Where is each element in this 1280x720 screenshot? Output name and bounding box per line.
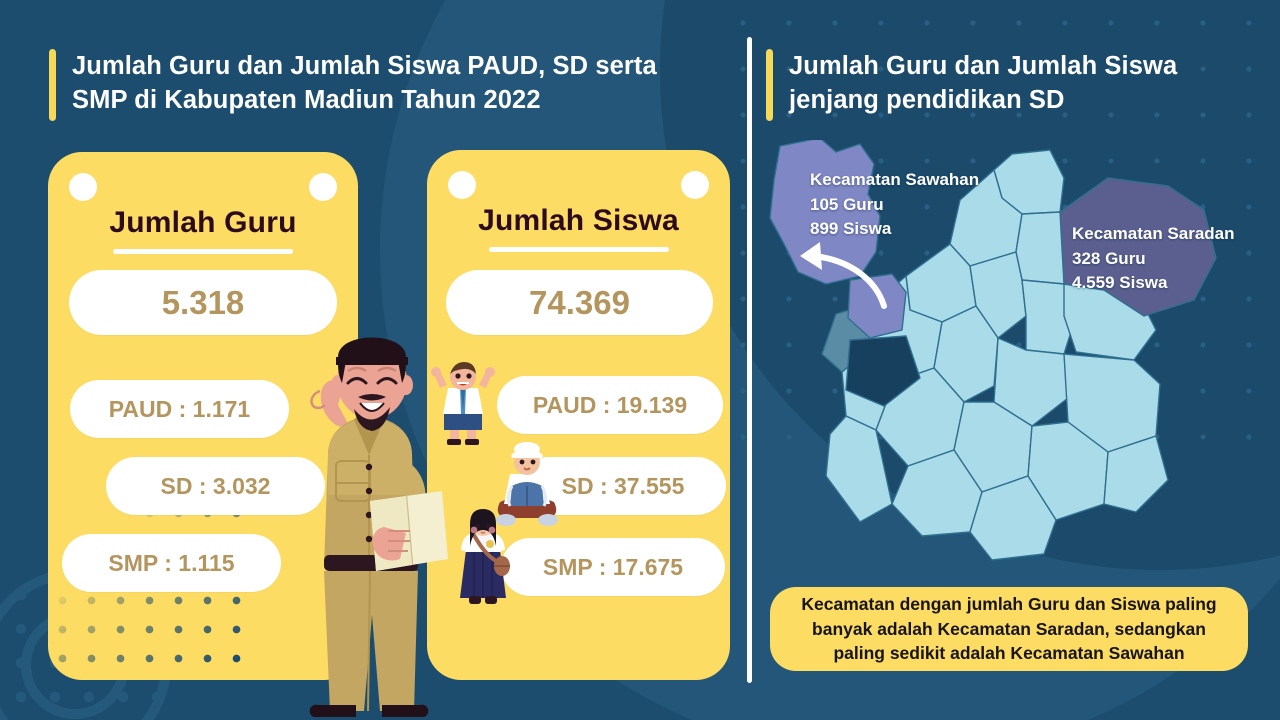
card-title-underline [489, 247, 669, 252]
card-title-underline [113, 249, 293, 254]
title-accent-bar [49, 49, 56, 121]
student-paud-illustration [430, 358, 496, 446]
card-title-guru: Jumlah Guru [48, 206, 358, 240]
title-accent-bar [766, 49, 773, 121]
guru-paud-value: PAUD : 1.171 [70, 380, 289, 438]
madiun-district-map: Kecamatan Sawahan 105 Guru 899 Siswa Kec… [764, 140, 1264, 570]
card-punch-hole-left [69, 173, 97, 201]
card-punch-hole-right [681, 171, 709, 199]
siswa-total-value: 74.369 [446, 270, 713, 335]
map-caption-box: Kecamatan dengan jumlah Guru dan Siswa p… [770, 587, 1248, 671]
right-title-text: Jumlah Guru dan Jumlah Siswa jenjang pen… [789, 49, 1177, 121]
left-title-text: Jumlah Guru dan Jumlah Siswa PAUD, SD se… [72, 49, 657, 121]
panel-divider [747, 37, 752, 683]
left-panel-title: Jumlah Guru dan Jumlah Siswa PAUD, SD se… [49, 49, 709, 121]
card-punch-hole-left [448, 171, 476, 199]
right-panel-title: Jumlah Guru dan Jumlah Siswa jenjang pen… [766, 49, 1236, 121]
guru-smp-value: SMP : 1.115 [62, 534, 281, 592]
map-label-sawahan: Kecamatan Sawahan 105 Guru 899 Siswa [810, 168, 979, 242]
map-caption-text: Kecamatan dengan jumlah Guru dan Siswa p… [785, 592, 1232, 667]
infographic-canvas: Jumlah Guru dan Jumlah Siswa PAUD, SD se… [0, 0, 1280, 720]
student-smp-illustration [452, 508, 514, 611]
siswa-smp-value: SMP : 17.675 [501, 538, 725, 596]
card-title-siswa: Jumlah Siswa [427, 204, 730, 238]
map-label-saradan: Kecamatan Saradan 328 Guru 4.559 Siswa [1072, 222, 1235, 296]
card-punch-hole-right [309, 173, 337, 201]
siswa-paud-value: PAUD : 19.139 [497, 376, 723, 434]
